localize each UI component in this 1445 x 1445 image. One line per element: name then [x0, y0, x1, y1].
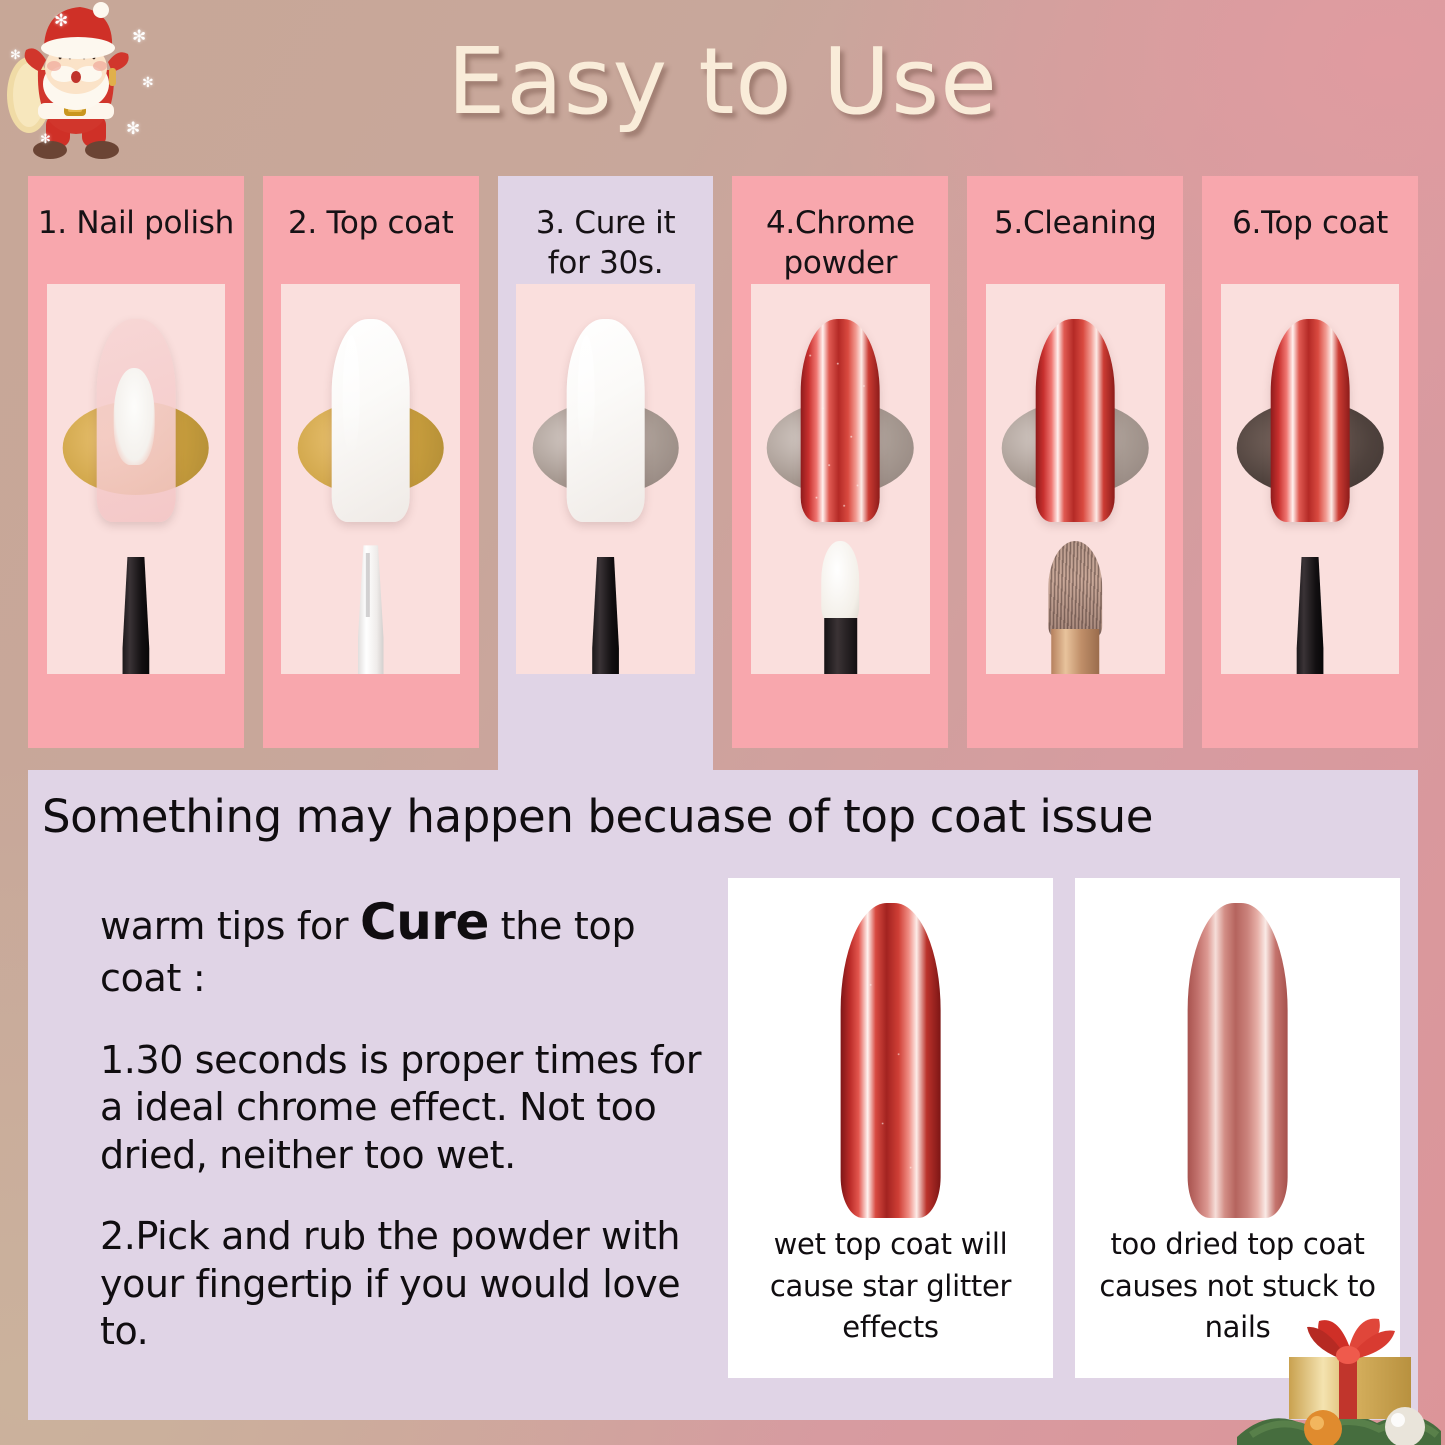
applicator-handle: [824, 618, 857, 674]
steps-strip: 1. Nail polish 2. Top coat 3. Cure it fo…: [28, 176, 1418, 748]
nail-tip: [331, 319, 410, 522]
applicator-tip: [822, 541, 860, 623]
comparison-card-wet[interactable]: wet top coat will cause star glitter eff…: [728, 878, 1053, 1378]
powder-applicator-icon: [822, 541, 860, 674]
step-card-3[interactable]: 3. Cure it for 30s.: [498, 176, 714, 770]
tip-item-2: 2.Pick and rub the powder with your fing…: [100, 1213, 720, 1356]
warm-tips-prefix: warm tips for: [100, 904, 360, 948]
step-label: 3. Cure it for 30s.: [498, 176, 714, 284]
step-photo: [986, 284, 1165, 674]
warm-tips-heading: warm tips for Cure the top coat :: [100, 890, 720, 1003]
tip-item-1: 1.30 seconds is proper times for a ideal…: [100, 1037, 720, 1180]
wet-topcoat-nail: [840, 903, 941, 1218]
nail-tip: [1036, 319, 1115, 522]
christmas-gift-icon: [1227, 1265, 1445, 1445]
step-photo: [516, 284, 695, 674]
black-brush-icon: [590, 557, 620, 674]
step-card-4[interactable]: 4.Chrome powder: [732, 176, 948, 748]
step-photo: [1221, 284, 1400, 674]
step-label: 5.Cleaning: [967, 176, 1183, 244]
step-card-5[interactable]: 5.Cleaning: [967, 176, 1183, 748]
nail-tip: [1271, 319, 1350, 522]
step-card-6[interactable]: 6.Top coat: [1202, 176, 1418, 748]
step-card-1[interactable]: 1. Nail polish: [28, 176, 244, 748]
comparison-caption: wet top coat will cause star glitter eff…: [748, 1224, 1034, 1348]
nail-tip: [566, 319, 645, 522]
warm-tips-keyword: Cure: [360, 893, 489, 951]
step-label: 2. Top coat: [263, 176, 479, 244]
panel-heading: Something may happen becuase of top coat…: [42, 792, 1406, 842]
step-label: 1. Nail polish: [28, 176, 244, 244]
nail-tip: [97, 319, 176, 522]
black-brush-icon: [1295, 557, 1325, 674]
dried-topcoat-nail: [1187, 903, 1288, 1218]
infographic-page: ✻ ✻ ✻ ✻ ✻ ✻ Easy to Use 1. Nail polish 2…: [0, 0, 1445, 1445]
brush-ferrule: [1051, 629, 1100, 674]
black-brush-icon: [121, 557, 151, 674]
step-photo: [281, 284, 460, 674]
step-card-2[interactable]: 2. Top coat: [263, 176, 479, 748]
step-label: 6.Top coat: [1202, 176, 1418, 244]
nail-tip: [801, 319, 880, 522]
step-photo: [47, 284, 226, 674]
white-brush-icon: [356, 545, 386, 674]
snowflake-icon: ✻: [54, 12, 68, 29]
step-label: 4.Chrome powder: [732, 176, 948, 284]
brush-bristles: [1048, 541, 1102, 636]
step-photo: [751, 284, 930, 674]
panel-body: warm tips for Cure the top coat : 1.30 s…: [100, 890, 720, 1390]
page-title: Easy to Use: [0, 28, 1445, 135]
cleaning-brush-icon: [1039, 541, 1110, 674]
tips-panel: Something may happen becuase of top coat…: [28, 770, 1418, 1420]
